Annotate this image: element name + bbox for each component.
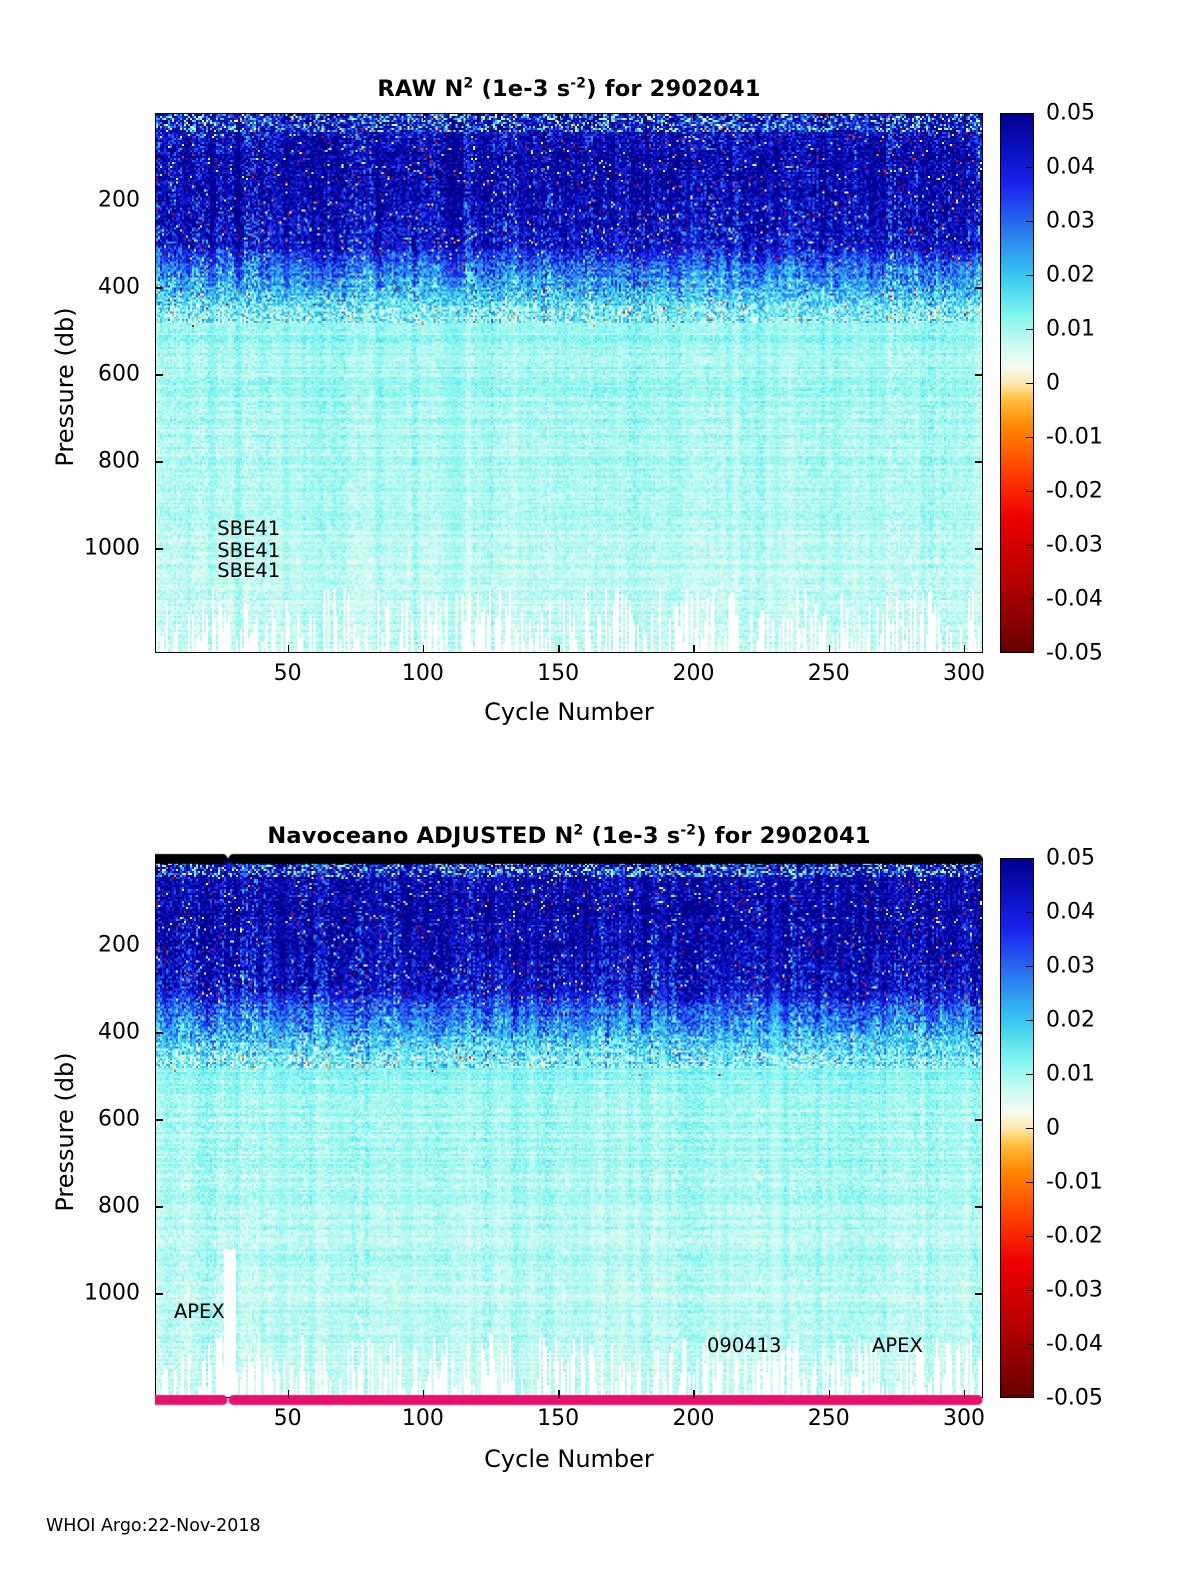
x-tick-label: 300: [943, 661, 985, 686]
colorbar-tick-label: -0.03: [1046, 1278, 1103, 1303]
x-tick-mark: [288, 113, 289, 121]
x-tick-mark: [288, 645, 289, 653]
y-tick-mark: [155, 1119, 163, 1120]
colorbar-tick-label: 0.01: [1046, 1062, 1095, 1087]
y-axis-title-adjusted: Pressure (db): [51, 1032, 79, 1232]
title-text-3: ) for 2902041: [696, 823, 870, 849]
x-tick-label: 150: [537, 1406, 579, 1431]
y-tick-label: 200: [15, 933, 140, 958]
colorbar-tick-label: 0.02: [1046, 1008, 1095, 1033]
x-tick-mark: [964, 858, 965, 866]
colorbar-tick-label: 0.04: [1046, 900, 1095, 925]
title-superscript-neg2: -2: [570, 76, 586, 92]
y-tick-mark: [975, 1206, 983, 1207]
date-label: 090413: [707, 1333, 781, 1359]
y-tick-mark: [155, 1032, 163, 1033]
panel-adjusted: Navoceano ADJUSTED N2 (1e-3 s-2) for 290…: [0, 745, 1200, 1505]
colorbar-tick-mark: [1026, 1128, 1034, 1129]
y-tick-mark: [975, 1032, 983, 1033]
x-tick-label: 300: [943, 1406, 985, 1431]
x-tick-mark: [558, 858, 559, 866]
colorbar-tick-mark: [1026, 966, 1034, 967]
y-tick-mark: [155, 287, 163, 288]
colorbar-tick-mark: [1026, 1290, 1034, 1291]
title-text-2: (1e-3 s: [473, 76, 570, 102]
y-tick-mark: [155, 461, 163, 462]
colorbar-tick-label: 0.03: [1046, 209, 1095, 234]
x-tick-label: 50: [274, 1406, 302, 1431]
colorbar-tick-mark: [1026, 912, 1034, 913]
x-tick-mark: [693, 858, 694, 866]
x-tick-mark: [558, 113, 559, 121]
x-tick-mark: [558, 645, 559, 653]
x-tick-label: 100: [402, 1406, 444, 1431]
colorbar-adjusted[interactable]: 0.050.040.030.020.010-0.01-0.02-0.03-0.0…: [1000, 858, 1150, 1398]
title-superscript-2: 2: [464, 76, 474, 92]
x-tick-label: 100: [402, 661, 444, 686]
title-superscript-neg2: -2: [680, 823, 696, 839]
title-text-3: ) for 2902041: [586, 76, 760, 102]
colorbar-tick-label: 0.01: [1046, 317, 1095, 342]
y-tick-mark: [155, 548, 163, 549]
y-tick-mark: [975, 1293, 983, 1294]
x-tick-mark: [693, 113, 694, 121]
x-tick-mark: [288, 1390, 289, 1398]
x-tick-mark: [558, 1390, 559, 1398]
x-tick-mark: [693, 645, 694, 653]
x-tick-label: 200: [672, 661, 714, 686]
y-tick-mark: [155, 200, 163, 201]
colorbar-tick-mark: [1026, 491, 1034, 492]
x-tick-label: 200: [672, 1406, 714, 1431]
colorbar-tick-label: -0.02: [1046, 1224, 1103, 1249]
heatmap-adjusted[interactable]: [155, 858, 983, 1398]
colorbar-tick-label: -0.05: [1046, 641, 1103, 666]
y-tick-mark: [155, 1293, 163, 1294]
colorbar-tick-label: -0.04: [1046, 587, 1103, 612]
colorbar-tick-mark: [1026, 1182, 1034, 1183]
colorbar-tick-label: 0.02: [1046, 263, 1095, 288]
x-tick-mark: [964, 1390, 965, 1398]
x-tick-mark: [423, 113, 424, 121]
x-tick-mark: [693, 1390, 694, 1398]
colorbar-tick-label: 0: [1046, 1116, 1060, 1141]
colorbar-tick-mark: [1026, 329, 1034, 330]
y-axis-title-raw: Pressure (db): [51, 287, 79, 487]
x-tick-mark: [829, 858, 830, 866]
x-tick-mark: [829, 113, 830, 121]
platform-label-left: APEX: [174, 1299, 225, 1325]
colorbar-tick-label: -0.04: [1046, 1332, 1103, 1357]
title-text-2: (1e-3 s: [583, 823, 680, 849]
x-tick-label: 250: [808, 661, 850, 686]
x-axis-title-raw: Cycle Number: [155, 698, 983, 726]
colorbar-tick-mark: [1026, 275, 1034, 276]
y-tick-label: 200: [15, 188, 140, 213]
y-tick-label: 1000: [15, 536, 140, 561]
x-axis-title-adjusted: Cycle Number: [155, 1445, 983, 1473]
x-tick-mark: [288, 858, 289, 866]
colorbar-tick-mark: [1026, 1344, 1034, 1345]
x-tick-mark: [423, 858, 424, 866]
bottom-marker-row-adjusted: [155, 1393, 983, 1407]
y-tick-mark: [975, 1119, 983, 1120]
colorbar-tick-mark: [1026, 221, 1034, 222]
y-tick-mark: [155, 1206, 163, 1207]
x-tick-mark: [964, 113, 965, 121]
title-superscript-2: 2: [574, 823, 584, 839]
colorbar-tick-label: -0.05: [1046, 1386, 1103, 1411]
y-tick-mark: [975, 374, 983, 375]
colorbar-tick-mark: [1026, 599, 1034, 600]
colorbar-raw[interactable]: 0.050.040.030.020.010-0.01-0.02-0.03-0.0…: [1000, 113, 1150, 653]
x-tick-label: 150: [537, 661, 579, 686]
panel-raw-title: RAW N2 (1e-3 s-2) for 2902041: [155, 76, 983, 102]
x-tick-mark: [964, 645, 965, 653]
colorbar-tick-mark: [1026, 1236, 1034, 1237]
y-tick-mark: [975, 200, 983, 201]
x-tick-mark: [423, 1390, 424, 1398]
colorbar-tick-mark: [1026, 383, 1034, 384]
x-tick-mark: [423, 645, 424, 653]
colorbar-tick-label: 0: [1046, 371, 1060, 396]
title-text-1: Navoceano ADJUSTED N: [267, 823, 573, 849]
colorbar-tick-mark: [1026, 437, 1034, 438]
y-tick-mark: [975, 461, 983, 462]
y-tick-mark: [155, 374, 163, 375]
y-tick-mark: [975, 287, 983, 288]
y-tick-label: 1000: [15, 1281, 140, 1306]
x-tick-mark: [829, 1390, 830, 1398]
y-tick-mark: [975, 945, 983, 946]
platform-label-right: APEX: [872, 1333, 923, 1359]
y-tick-mark: [975, 548, 983, 549]
footer-credit: WHOI Argo:22-Nov-2018: [46, 1516, 261, 1536]
colorbar-tick-label: -0.01: [1046, 1170, 1103, 1195]
colorbar-tick-mark: [1026, 167, 1034, 168]
colorbar-tick-mark: [1026, 1020, 1034, 1021]
x-tick-mark: [829, 645, 830, 653]
colorbar-tick-label: 0.03: [1046, 954, 1095, 979]
colorbar-tick-label: 0.05: [1046, 101, 1095, 126]
panel-adjusted-title: Navoceano ADJUSTED N2 (1e-3 s-2) for 290…: [155, 823, 983, 849]
sensor-label-3: SBE41: [217, 558, 280, 584]
colorbar-tick-mark: [1026, 545, 1034, 546]
top-marker-row-adjusted: [155, 852, 983, 866]
title-text-1: RAW N: [377, 76, 463, 102]
x-tick-label: 50: [274, 661, 302, 686]
colorbar-tick-mark: [1026, 1074, 1034, 1075]
heatmap-adjusted-canvas: [156, 859, 982, 1397]
colorbar-tick-label: -0.01: [1046, 425, 1103, 450]
colorbar-tick-label: 0.04: [1046, 155, 1095, 180]
colorbar-tick-label: -0.02: [1046, 479, 1103, 504]
y-tick-mark: [155, 945, 163, 946]
panel-raw: RAW N2 (1e-3 s-2) for 2902041 2004006008…: [0, 0, 1200, 760]
x-tick-label: 250: [808, 1406, 850, 1431]
colorbar-tick-label: 0.05: [1046, 846, 1095, 871]
colorbar-tick-label: -0.03: [1046, 533, 1103, 558]
